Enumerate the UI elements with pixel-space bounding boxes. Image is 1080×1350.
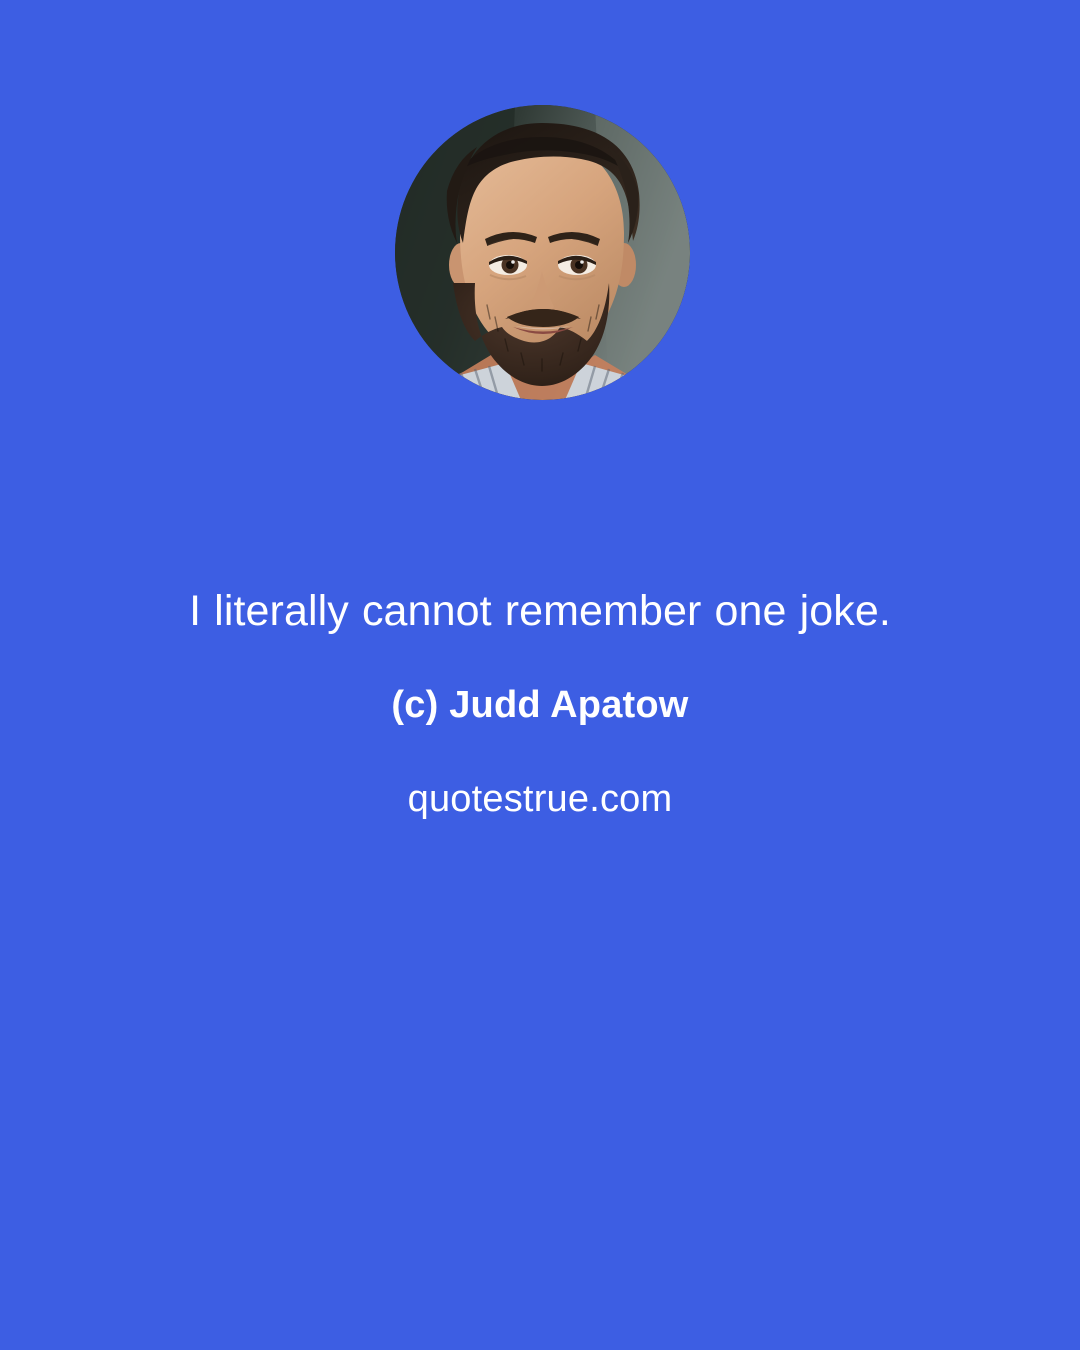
quote-card: I literally cannot remember one joke. (c… xyxy=(0,0,1080,1350)
quote-attribution: (c) Judd Apatow xyxy=(90,683,990,729)
person-portrait-photo-icon xyxy=(395,105,690,400)
quote-text-block: I literally cannot remember one joke. (c… xyxy=(0,575,1080,822)
avatar xyxy=(395,105,690,400)
quote-text: I literally cannot remember one joke. xyxy=(140,575,940,649)
site-watermark: quotestrue.com xyxy=(90,777,990,823)
